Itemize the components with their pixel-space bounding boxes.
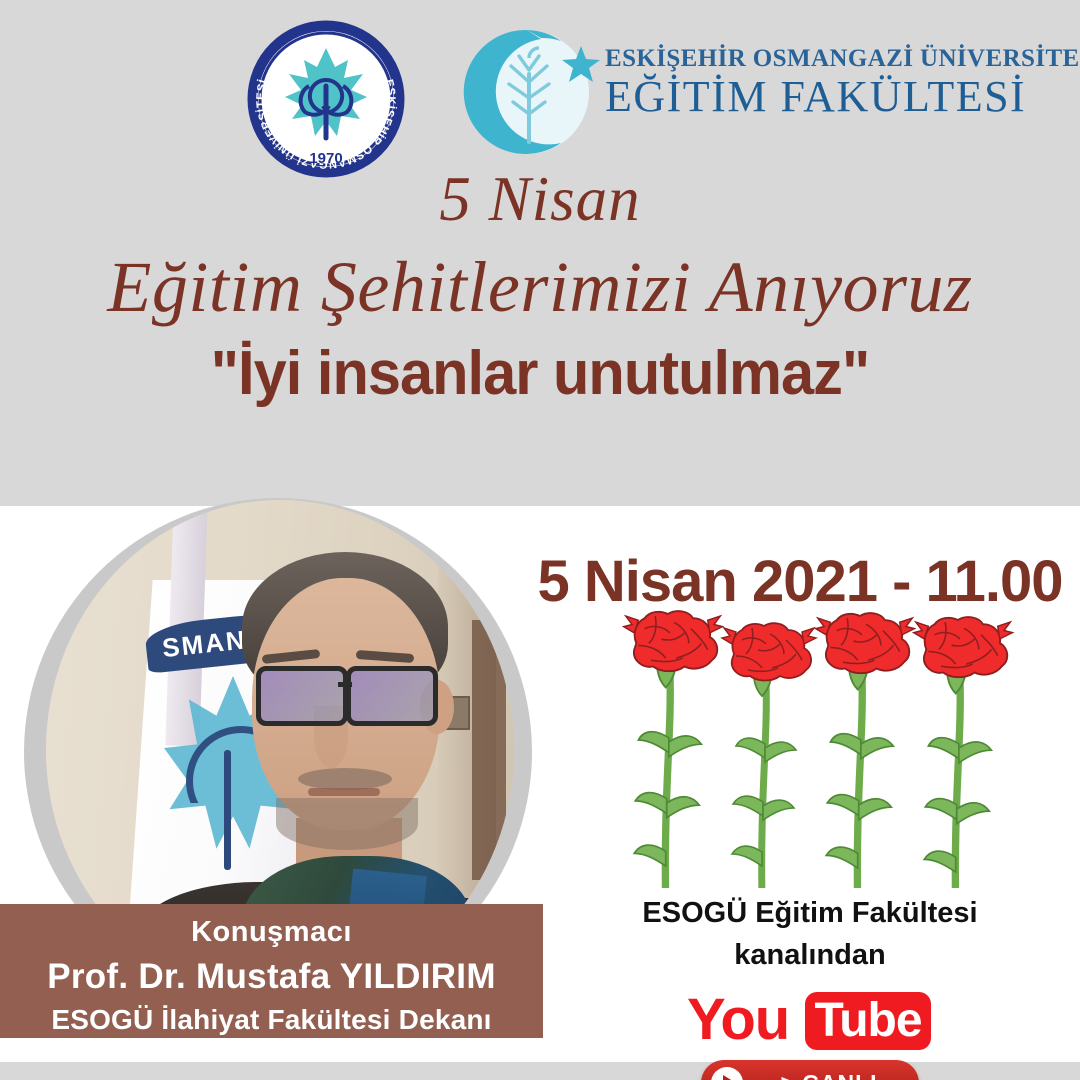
university-seal-icon: ESKİŞEHİR OSMANGAZİ ÜNİVERSİTESİ 1970 [247, 20, 405, 178]
faculty-wordmark: ESKİŞEHİR OSMANGAZİ ÜNİVERSİTESİ EĞİTİM … [605, 46, 1025, 119]
channel-line-2: kanalından [600, 934, 1020, 976]
headline-quote: "İyi insanlar unutulmaz" [22, 343, 1059, 405]
play-icon [711, 1067, 743, 1080]
live-stream-label: > CANLI YAYIN < [749, 1060, 909, 1080]
headline-date-script: 5 Nisan [0, 168, 1080, 231]
youtube-logo-icon[interactable]: You Tube [687, 988, 933, 1054]
broadcast-block: ESOGÜ Eğitim Fakültesi kanalından You Tu… [600, 892, 1020, 1080]
speaker-name: Prof. Dr. Mustafa YILDIRIM [0, 954, 543, 1000]
live-stream-button[interactable]: > CANLI YAYIN < [701, 1060, 919, 1080]
headline-block: 5 Nisan Eğitim Şehitlerimizi Anıyoruz "İ… [0, 168, 1080, 405]
headline-main-script: Eğitim Şehitlerimizi Anıyoruz [0, 251, 1080, 323]
svg-text:1970: 1970 [309, 150, 342, 167]
red-carnation-icon [620, 608, 1020, 888]
speaker-caption-bar: Konuşmacı Prof. Dr. Mustafa YILDIRIM ESO… [0, 904, 543, 1038]
channel-line-1: ESOGÜ Eğitim Fakültesi [600, 892, 1020, 934]
speaker-title: ESOGÜ İlahiyat Fakültesi Dekanı [0, 1002, 543, 1038]
poster-canvas: ESKİŞEHİR OSMANGAZİ ÜNİVERSİTESİ 1970 ES… [0, 0, 1080, 1080]
youtube-you-text: You [687, 988, 789, 1052]
youtube-tube-text: Tube [805, 992, 931, 1050]
faculty-crescent-star-tree-icon [455, 22, 620, 162]
header-logos: ESKİŞEHİR OSMANGAZİ ÜNİVERSİTESİ 1970 ES… [0, 8, 1080, 173]
faculty-wordmark-line1: ESKİŞEHİR OSMANGAZİ ÜNİVERSİTESİ [605, 46, 1025, 71]
speaker-role-label: Konuşmacı [0, 914, 543, 950]
faculty-wordmark-line2: EĞİTİM FAKÜLTESİ [605, 75, 1025, 119]
event-date-time: 5 Nisan 2021 - 11.00 [520, 548, 1080, 615]
